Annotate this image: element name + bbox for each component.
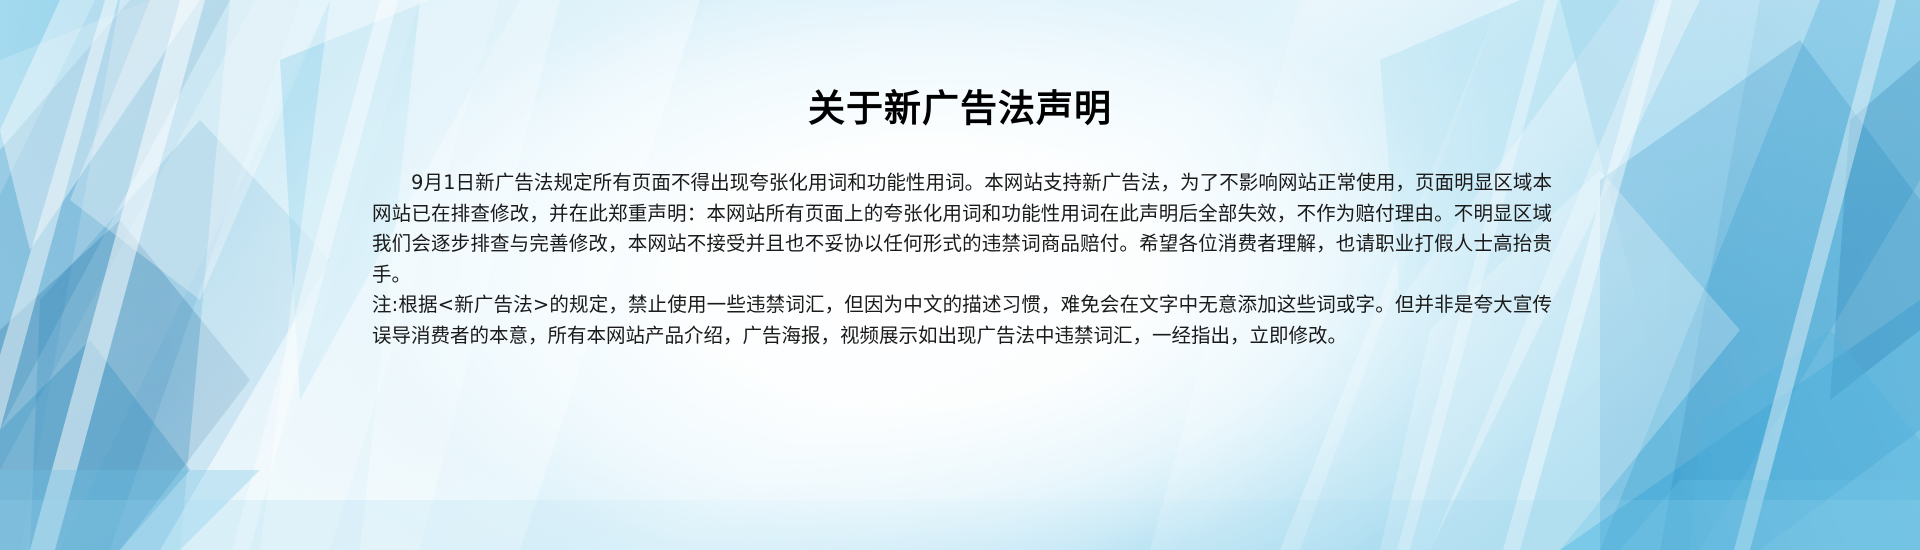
content-layer: 关于新广告法声明 9月1日新广告法规定所有页面不得出现夸张化用词和功能性用词。本… [0,0,1920,550]
statement-paragraph-note: 注:根据<新广告法>的规定，禁止使用一些违禁词汇，但因为中文的描述习惯，难免会在… [372,290,1552,351]
page-title: 关于新广告法声明 [0,86,1920,132]
statement-paragraph-main: 9月1日新广告法规定所有页面不得出现夸张化用词和功能性用词。本网站支持新广告法，… [372,168,1552,290]
banner-stage: 关于新广告法声明 9月1日新广告法规定所有页面不得出现夸张化用词和功能性用词。本… [0,0,1920,550]
statement-body: 9月1日新广告法规定所有页面不得出现夸张化用词和功能性用词。本网站支持新广告法，… [372,168,1552,351]
